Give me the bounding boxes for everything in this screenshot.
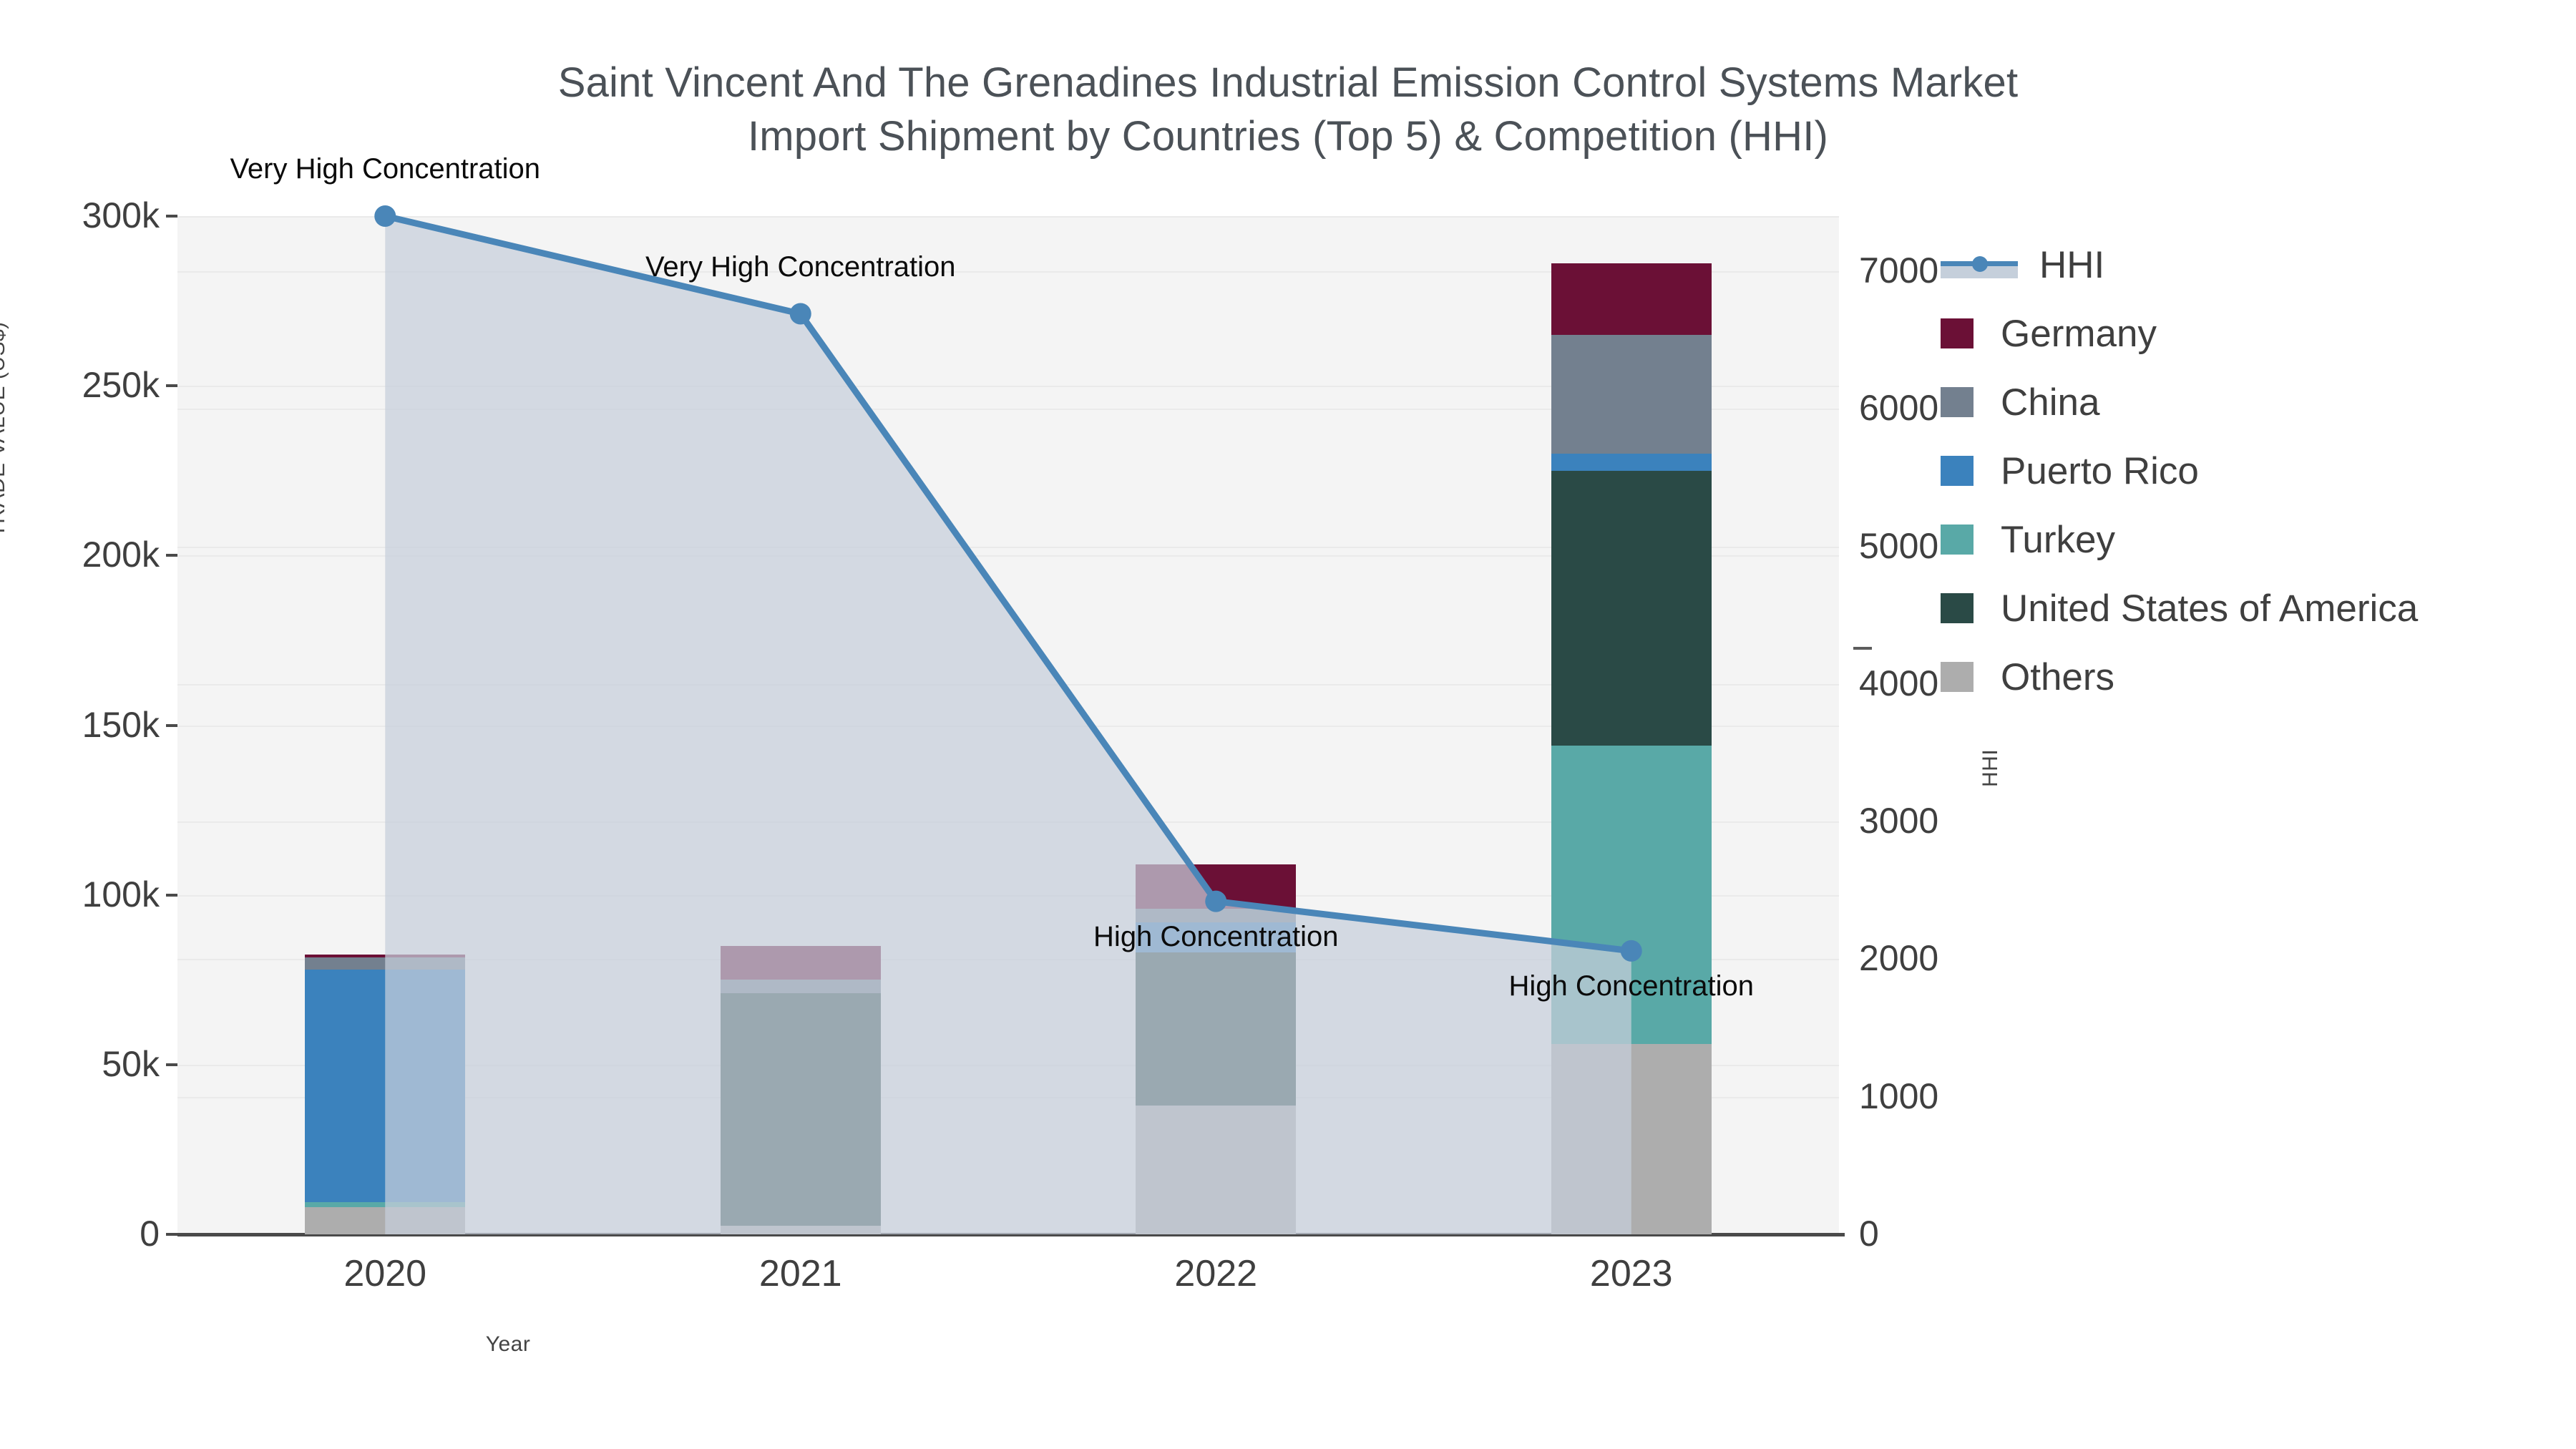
- legend-item-label: Others: [2001, 658, 2114, 696]
- legend-swatch-icon: [1941, 318, 1974, 348]
- x-axis-tick-label: 2021: [658, 1252, 944, 1295]
- y-axis-left-tick-mark: [166, 894, 177, 897]
- y-axis-left-tick-label: 300k: [16, 197, 160, 233]
- legend-swatch-icon: [1941, 456, 1974, 486]
- bar-segment[interactable]: [1136, 952, 1296, 1105]
- y-axis-left-tick-label: 200k: [16, 537, 160, 572]
- x-axis-tick-label: 2023: [1488, 1252, 1775, 1295]
- legend-item-label: Germany: [2001, 315, 2157, 353]
- legend-item-label: Puerto Rico: [2001, 452, 2199, 490]
- legend-item[interactable]: Puerto Rico: [1941, 436, 2418, 505]
- legend-swatch-icon: [1941, 662, 1974, 692]
- bar-segment[interactable]: [305, 957, 465, 970]
- legend-swatch-icon: [1941, 593, 1974, 623]
- legend-swatch-icon: [1941, 525, 1974, 555]
- legend-item-label: China: [2001, 384, 2099, 421]
- bar-segment[interactable]: [305, 955, 465, 958]
- legend-item-label: United States of America: [2001, 590, 2418, 628]
- legend-line-marker-icon: [1941, 250, 2018, 280]
- y-axis-right-tick-dash: [1853, 647, 1872, 650]
- concentration-annotation: Very High Concentration: [230, 153, 540, 185]
- y-axis-left-tick-label: 100k: [16, 877, 160, 912]
- y-axis-right-tick-label: 2000: [1859, 940, 2088, 976]
- bar-segment[interactable]: [1551, 471, 1712, 746]
- x-axis-tick-label: 2022: [1073, 1252, 1359, 1295]
- bar-segment[interactable]: [721, 993, 881, 1226]
- chart-title-line1: Saint Vincent And The Grenadines Industr…: [558, 59, 2019, 106]
- y-axis-left-tick-mark: [166, 215, 177, 218]
- x-axis-title: Year: [0, 1332, 1016, 1357]
- y-axis-left-tick-mark: [166, 384, 177, 387]
- concentration-annotation: Very High Concentration: [645, 251, 956, 283]
- concentration-annotation: High Concentration: [1509, 970, 1754, 1002]
- legend-item[interactable]: Germany: [1941, 299, 2418, 368]
- y-axis-right-tick-label: 1000: [1859, 1078, 2088, 1114]
- bar-segment[interactable]: [1551, 1044, 1712, 1234]
- legend-swatch-icon: [1941, 387, 1974, 417]
- y-axis-left-tick-label: 150k: [16, 707, 160, 743]
- chart-title: Saint Vincent And The Grenadines Industr…: [0, 56, 2576, 164]
- legend-item[interactable]: Turkey: [1941, 505, 2418, 574]
- y-axis-left-tick-label: 50k: [16, 1046, 160, 1082]
- y-axis-right-title: HHI: [1979, 749, 2003, 787]
- chart-root: Saint Vincent And The Grenadines Industr…: [0, 0, 2576, 1449]
- x-axis-tick-label: 2020: [242, 1252, 528, 1295]
- gridline: [177, 216, 1839, 218]
- legend-item[interactable]: Others: [1941, 643, 2418, 711]
- bar-segment[interactable]: [1136, 864, 1296, 909]
- y-axis-left-tick-mark: [166, 1233, 177, 1236]
- y-axis-right-tick-label: 3000: [1859, 803, 2088, 839]
- concentration-annotation: High Concentration: [1093, 921, 1338, 953]
- y-axis-right-tick-label: 0: [1859, 1216, 2088, 1252]
- y-axis-left-title: TRADE VALUE (US$): [0, 229, 10, 630]
- bar-segment[interactable]: [1551, 263, 1712, 335]
- y-axis-left-tick-label: 250k: [16, 367, 160, 403]
- legend-item-label: HHI: [2039, 246, 2104, 284]
- bar-segment[interactable]: [1136, 1106, 1296, 1234]
- bar-segment[interactable]: [1551, 335, 1712, 454]
- bar-segment[interactable]: [1551, 454, 1712, 471]
- bar-segment[interactable]: [721, 980, 881, 993]
- y-axis-left-tick-mark: [166, 724, 177, 727]
- bar-segment[interactable]: [721, 1226, 881, 1234]
- y-axis-left-tick-mark: [166, 554, 177, 557]
- bar-segment[interactable]: [305, 1202, 465, 1207]
- legend-item[interactable]: United States of America: [1941, 574, 2418, 643]
- legend-item[interactable]: HHI: [1941, 230, 2418, 299]
- legend: HHIGermanyChinaPuerto RicoTurkeyUnited S…: [1941, 230, 2418, 711]
- legend-item-label: Turkey: [2001, 521, 2115, 559]
- bar-segment[interactable]: [305, 970, 465, 1202]
- y-axis-left-tick-label: 0: [16, 1216, 160, 1252]
- bar-segment[interactable]: [721, 946, 881, 980]
- y-axis-left-tick-mark: [166, 1063, 177, 1066]
- bar-segment[interactable]: [305, 1207, 465, 1234]
- legend-item[interactable]: China: [1941, 368, 2418, 436]
